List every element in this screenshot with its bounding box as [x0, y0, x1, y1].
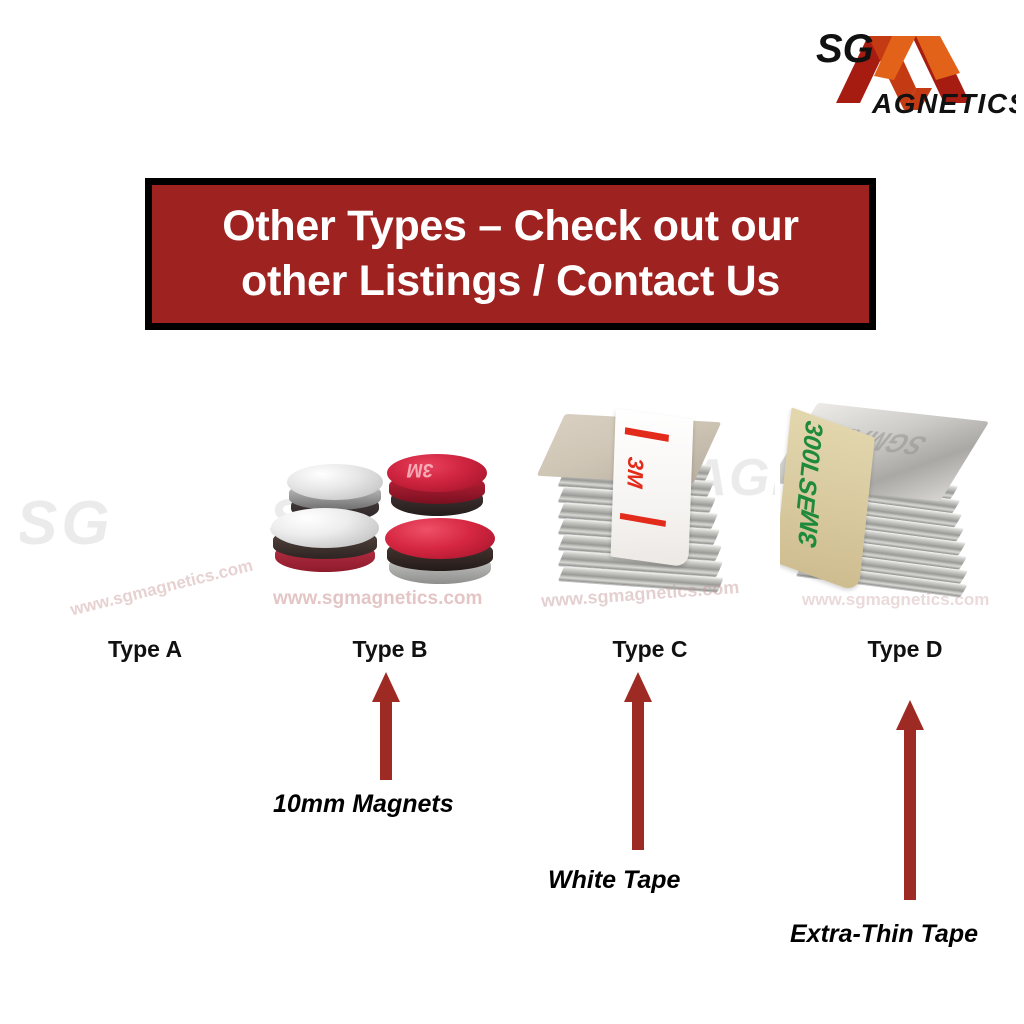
arrow-up-to-type-d: [895, 700, 925, 900]
product-type-d: SGMAX 3M 300LSE www.sgmagnetics.com Type…: [780, 400, 1024, 670]
watermark-site-a: www.sgmagnetics.com: [68, 556, 255, 621]
magnet-stack-d: SGMAX 3M 300LSE: [780, 400, 1024, 630]
disc-magnet-front-left: [271, 508, 379, 572]
callout-extra-thin-tape: Extra-Thin Tape: [790, 920, 978, 949]
tape-liner-d: 3M 300LSE: [780, 407, 875, 592]
callout-white-tape: White Tape: [548, 866, 680, 895]
promo-banner-line-1: Other Types – Check out our: [222, 199, 799, 254]
tape-stripe: [620, 513, 666, 527]
product-photo-type-c: SGMAGNETICS 3M www: [525, 400, 775, 630]
tape-liner-c: 3M: [611, 409, 694, 568]
product-type-b: SG 3M: [265, 400, 515, 670]
magnet-stack-c: 3M: [525, 400, 775, 630]
tape-brand-label-c: 3M: [621, 455, 648, 489]
product-type-c: SGMAGNETICS 3M www: [525, 400, 775, 670]
disc-magnet-front-right: [385, 518, 495, 584]
page-root: SG AGNETICS Other Types – Check out our …: [0, 0, 1024, 1024]
arrow-up-to-type-b: [371, 672, 401, 780]
product-label-type-a: Type A: [20, 636, 270, 663]
tape-stripe: [625, 427, 669, 442]
watermark-site-b: www.sgmagnetics.com: [273, 588, 482, 610]
product-label-type-d: Type D: [780, 636, 1024, 663]
callout-10mm-magnets: 10mm Magnets: [273, 790, 454, 819]
product-label-type-b: Type B: [265, 636, 515, 663]
promo-banner-line-2: other Listings / Contact Us: [241, 254, 780, 309]
promo-banner-inner: Other Types – Check out our other Listin…: [152, 185, 869, 323]
logo-text-agnetics: AGNETICS: [871, 88, 1016, 118]
product-photo-type-b: SG 3M: [265, 400, 515, 630]
product-photo-type-d: SGMAX 3M 300LSE www.sgmagnetics.com: [780, 400, 1024, 630]
logo-text-sg: SG: [816, 27, 874, 71]
tape-brand-label-b-back: 3M: [407, 458, 433, 480]
watermark-brand-a: SG: [20, 488, 114, 559]
promo-banner: Other Types – Check out our other Listin…: [145, 178, 876, 330]
disc-magnet-back-right: 3M: [387, 454, 487, 516]
logo-svg: SG AGNETICS: [816, 18, 1016, 118]
tape-code-label-d: 300LSE: [790, 416, 828, 516]
product-photo-type-a: SG 3M www.sgmagnetics.com: [20, 400, 270, 630]
sg-magnetics-logo: SG AGNETICS: [816, 18, 1016, 118]
product-type-a: SG 3M www.sgmagnetics.com Type A: [20, 400, 270, 670]
arrow-up-to-type-c: [623, 672, 653, 850]
product-label-type-c: Type C: [525, 636, 775, 663]
